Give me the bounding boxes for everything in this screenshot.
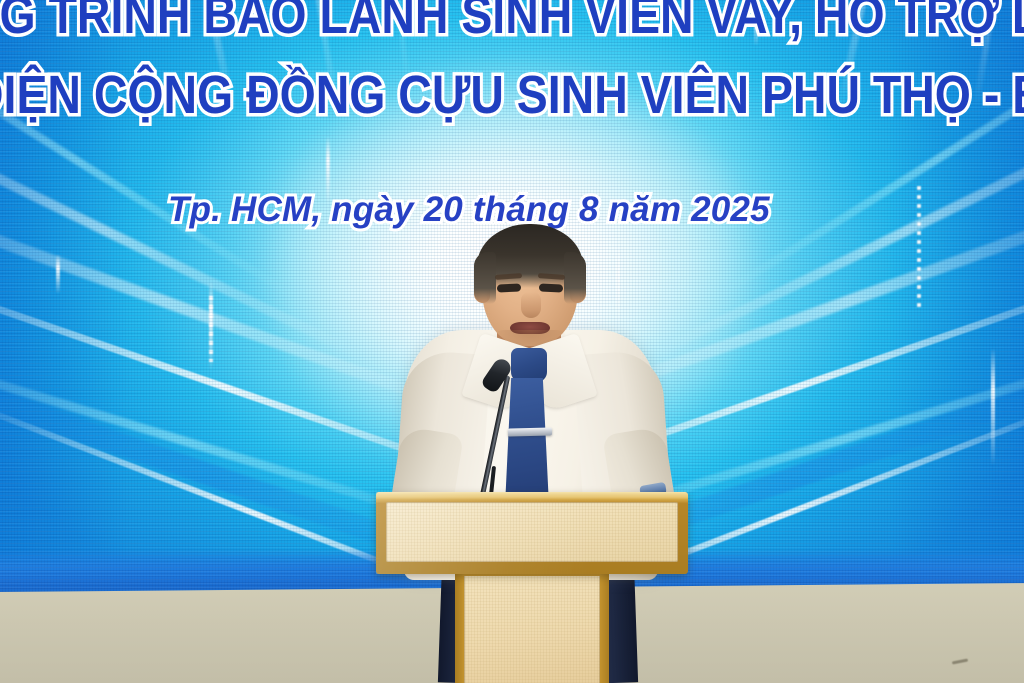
necktie-knot [511,348,547,382]
podium-top-panel [386,502,678,562]
podium-front-panel [464,576,600,683]
podium-column [455,572,609,683]
podium-desk [376,492,688,574]
hair-side-right [564,252,586,304]
eye-right [539,283,563,292]
tie-clip [508,427,552,436]
podium-top-gloss [376,492,688,503]
hair-side-left [474,252,496,304]
eye-left [497,283,521,292]
screenshot-root: NG TRÌNH BẢO LÃNH SINH VIÊN VAY, HỖ TRỢ … [0,0,1024,683]
nose [521,292,541,318]
necktie [505,378,549,506]
